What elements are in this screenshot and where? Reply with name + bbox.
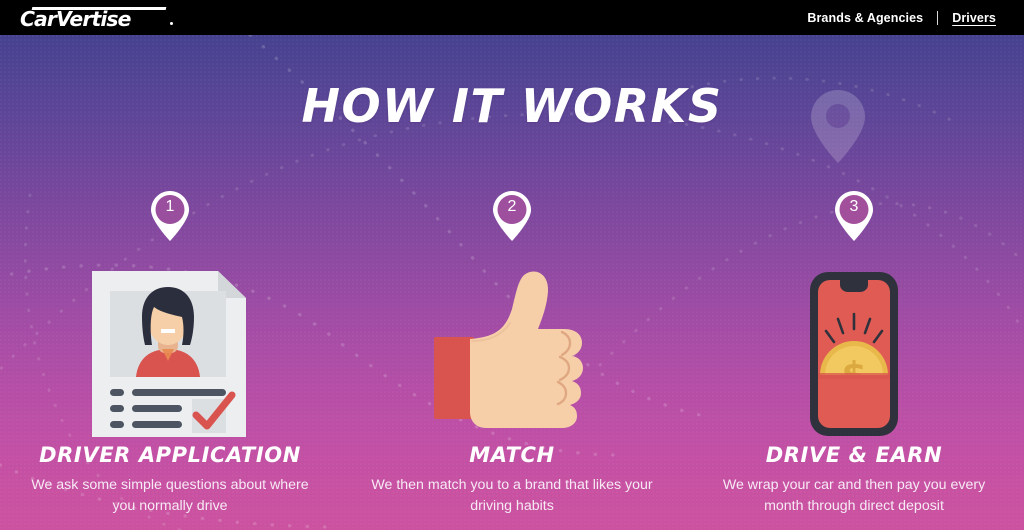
logo-wordmark: CarVertise xyxy=(20,9,131,29)
step-1-title: DRIVER APPLICATION xyxy=(0,443,340,467)
step-3-title: DRIVE & EARN xyxy=(684,443,1024,467)
nav-link-brands-agencies[interactable]: Brands & Agencies xyxy=(793,11,937,25)
smartphone-coin-icon: $ xyxy=(754,269,954,439)
step-number-2: 2 xyxy=(491,194,533,219)
top-navigation-bar: CarVertise Brands & Agencies Drivers xyxy=(0,0,1024,35)
step-number-3: 3 xyxy=(833,194,875,219)
step-card-3: 3 xyxy=(684,35,1024,530)
nav-divider xyxy=(937,11,938,25)
step-2-title: MATCH xyxy=(342,443,682,467)
step-pin-2-icon: 2 xyxy=(491,190,533,242)
step-card-1: 1 xyxy=(0,35,340,530)
step-1-illustration xyxy=(70,269,270,439)
step-2-body: We then match you to a brand that likes … xyxy=(362,475,662,517)
step-1-body: We ask some simple questions about where… xyxy=(20,475,320,517)
step-pin-1-icon: 1 xyxy=(149,190,191,242)
step-2-illustration xyxy=(412,269,612,439)
step-pin-3-icon: 3 xyxy=(833,190,875,242)
hero-section: .darc { fill:none; stroke:#ffffff; strok… xyxy=(0,35,1024,530)
nav-links: Brands & Agencies Drivers xyxy=(793,0,1010,35)
logo-registered-dot xyxy=(170,22,173,25)
step-number-1: 1 xyxy=(149,194,191,219)
step-3-illustration: $ xyxy=(754,269,954,439)
document-id-application-icon xyxy=(70,269,270,439)
thumbs-up-icon xyxy=(412,269,612,439)
steps-container: 1 xyxy=(0,35,1024,530)
carvertise-logo[interactable]: CarVertise xyxy=(20,6,180,30)
nav-link-drivers[interactable]: Drivers xyxy=(938,11,1010,25)
step-3-body: We wrap your car and then pay you every … xyxy=(704,475,1004,517)
step-card-2: 2 MATCH xyxy=(342,35,682,530)
how-it-works-page: CarVertise Brands & Agencies Drivers .da… xyxy=(0,0,1024,530)
